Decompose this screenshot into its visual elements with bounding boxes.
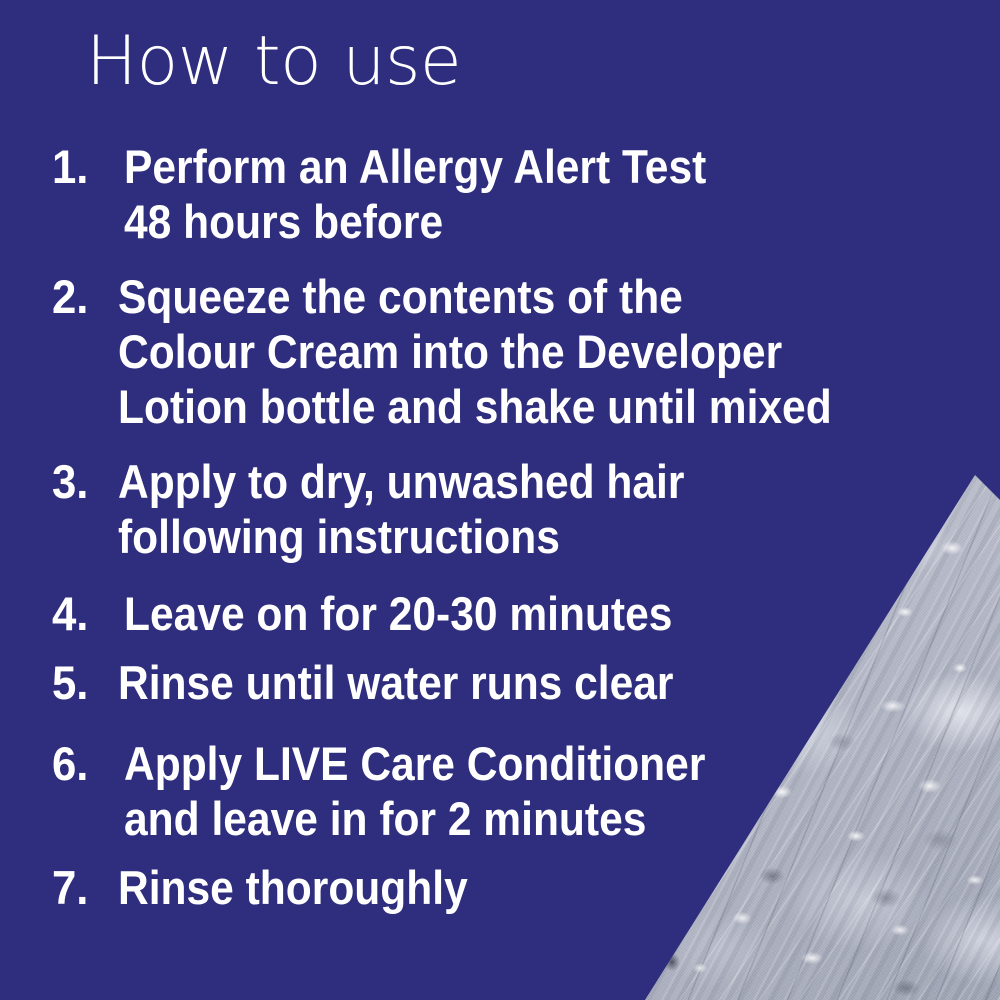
list-item: 2. Squeeze the contents of the Colour Cr… [52,270,952,435]
step-text: Leave on for 20-30 minutes [124,587,873,642]
list-item: 1. Perform an Allergy Alert Test 48 hour… [52,140,952,250]
step-number: 2. [52,270,113,325]
list-item: 3. Apply to dry, unwashed hair following… [52,455,952,565]
step-number: 4. [52,587,119,642]
step-text: Apply LIVE Care Conditioner and leave in… [124,737,873,847]
step-number: 1. [52,140,119,195]
step-number: 3. [52,455,113,510]
step-text: Squeeze the contents of the Colour Cream… [118,270,873,435]
step-number: 5. [52,656,113,711]
step-text: Perform an Allergy Alert Test 48 hours b… [124,140,873,250]
list-item: 6. Apply LIVE Care Conditioner and leave… [52,737,952,847]
step-number: 6. [52,737,119,792]
page-title: How to use [86,28,461,96]
how-to-use-panel: How to use 1. Perform an Allergy Alert T… [0,0,1000,1000]
step-text: Rinse thoroughly [118,861,873,916]
list-item: 7. Rinse thoroughly [52,861,952,916]
step-number: 7. [52,861,113,916]
step-text: Rinse until water runs clear [118,656,873,711]
list-item: 5. Rinse until water runs clear [52,656,952,711]
list-item: 4. Leave on for 20-30 minutes [52,587,952,642]
instruction-steps-list: 1. Perform an Allergy Alert Test 48 hour… [52,140,952,916]
step-text: Apply to dry, unwashed hair following in… [118,455,873,565]
